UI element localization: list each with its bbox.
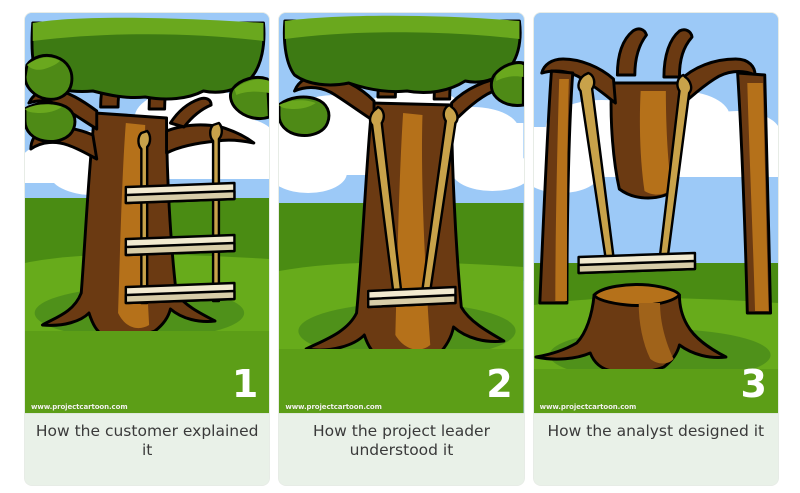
- panel-caption: How the project leader understood it: [279, 413, 523, 485]
- swing-rope-left: [138, 131, 150, 303]
- panel-number: 1: [232, 365, 258, 403]
- swing-seat: [369, 287, 456, 307]
- panel-3-illustration: [534, 13, 778, 413]
- panel-3-artwork: www.projectcartoon.com 3: [534, 13, 778, 413]
- panel-number: 2: [486, 365, 512, 403]
- panel-1-artwork: www.projectcartoon.com 1: [25, 13, 269, 413]
- panel-1-illustration: [25, 13, 269, 413]
- comic-strip: www.projectcartoon.com 1 How the custome…: [0, 0, 800, 493]
- watermark-label: www.projectcartoon.com: [285, 403, 382, 411]
- comic-panel-1[interactable]: www.projectcartoon.com 1 How the custome…: [25, 13, 269, 485]
- panel-caption: How the customer explained it: [25, 413, 269, 485]
- comic-panel-2[interactable]: www.projectcartoon.com 2 How the project…: [279, 13, 523, 485]
- swing-plank-top: [126, 183, 235, 203]
- watermark-label: www.projectcartoon.com: [31, 403, 128, 411]
- watermark-label: www.projectcartoon.com: [540, 403, 637, 411]
- panel-2-illustration: [279, 13, 523, 413]
- comic-panel-3[interactable]: www.projectcartoon.com 3 How the analyst…: [534, 13, 778, 485]
- swing-rope-right: [210, 123, 222, 301]
- swing-seat: [578, 253, 694, 273]
- panel-caption: How the analyst designed it: [534, 413, 778, 485]
- swing-plank-middle: [126, 235, 235, 255]
- panel-2-artwork: www.projectcartoon.com 2: [279, 13, 523, 413]
- panel-number: 3: [741, 365, 767, 403]
- swing-plank-bottom: [126, 283, 235, 303]
